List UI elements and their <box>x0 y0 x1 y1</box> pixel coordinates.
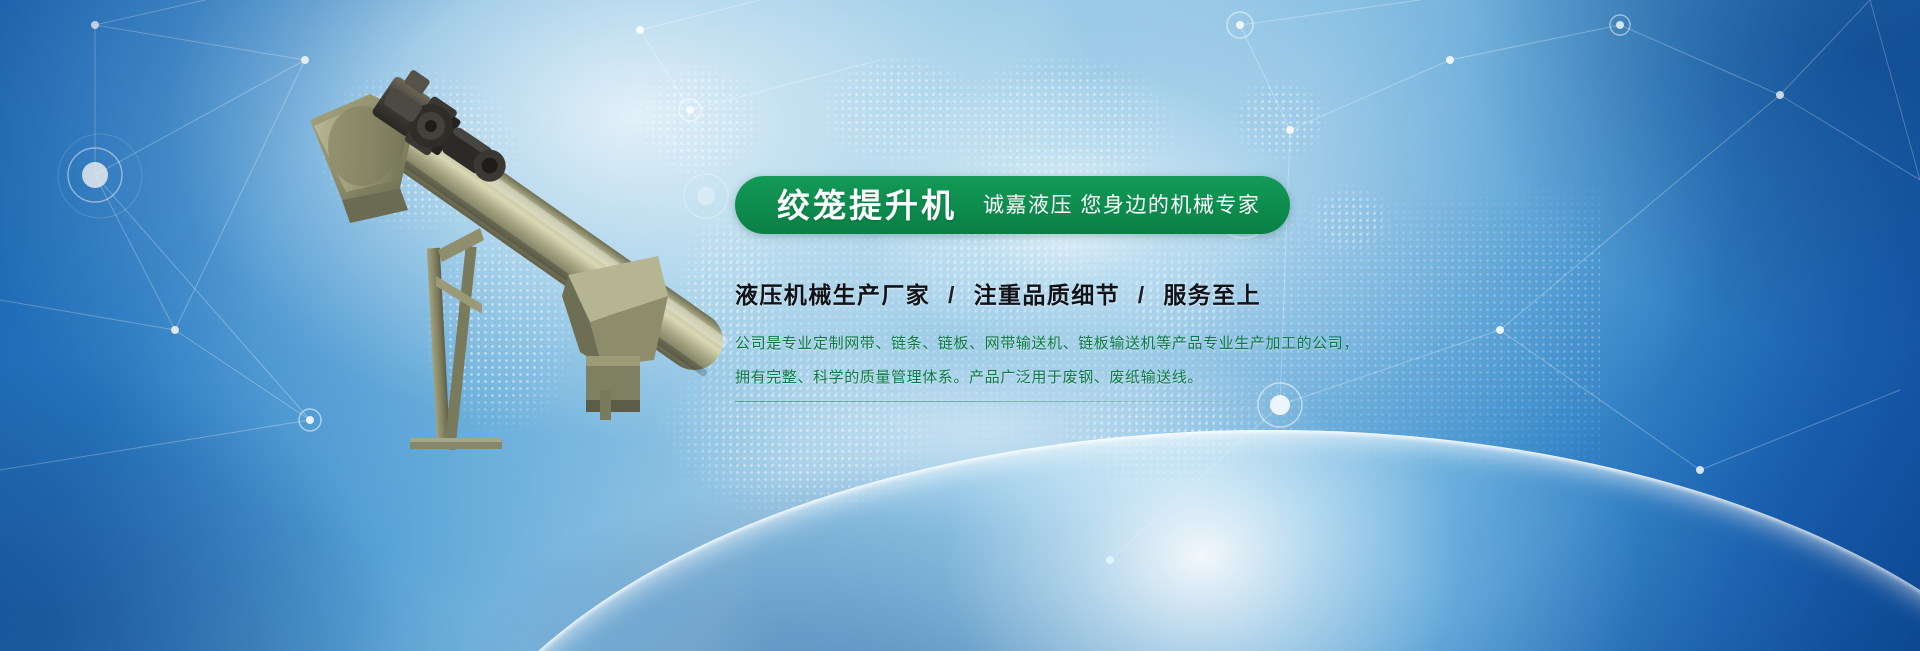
tagline-row: 液压机械生产厂家 / 注重品质细节 / 服务至上 <box>735 276 1865 310</box>
product-image-screw-conveyor <box>250 60 770 480</box>
description-underline <box>735 401 1275 402</box>
description-block: 公司是专业定制网带、链条、链板、网带输送机、链板输送机等产品专业生产加工的公司，… <box>735 332 1865 402</box>
description-line-2: 拥有完整、科学的质量管理体系。产品广泛用于废钢、废纸输送线。 <box>735 366 1865 389</box>
brand-slogan: 诚嘉液压 您身边的机械专家 <box>983 195 1260 216</box>
tagline-separator-1: / <box>938 282 966 308</box>
hero-banner: 绞笼提升机 诚嘉液压 您身边的机械专家 液压机械生产厂家 / 注重品质细节 / … <box>0 0 1920 651</box>
tagline-item-2: 注重品质细节 <box>974 282 1120 308</box>
description-line-1: 公司是专业定制网带、链条、链板、网带输送机、链板输送机等产品专业生产加工的公司， <box>735 332 1865 355</box>
tagline-item-3: 服务至上 <box>1163 282 1261 308</box>
banner-text-block: 绞笼提升机 诚嘉液压 您身边的机械专家 液压机械生产厂家 / 注重品质细节 / … <box>735 176 1865 402</box>
tagline-separator-2: / <box>1128 282 1156 308</box>
brand-pill: 绞笼提升机 诚嘉液压 您身边的机械专家 <box>735 176 1290 234</box>
product-title: 绞笼提升机 <box>777 189 957 222</box>
tagline-item-1: 液压机械生产厂家 <box>735 282 930 308</box>
